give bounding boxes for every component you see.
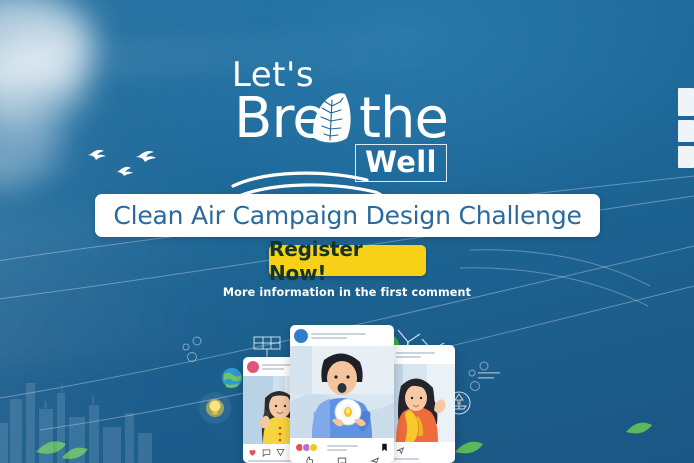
bookmark-icon[interactable] [380,442,389,453]
caption-placeholder [327,445,371,451]
card-actions[interactable] [290,438,394,463]
brand-logo: Let's Breathe [0,58,694,150]
post-image [290,346,394,438]
page-title: Clean Air Campaign Design Challenge [113,201,581,230]
more-info-note: More information in the first comment [0,286,694,299]
logo-line-well: Well [365,146,437,178]
headline-banner: Clean Air Campaign Design Challenge [95,194,600,237]
username-placeholder [396,352,451,358]
share-icon[interactable] [370,456,380,463]
reactions-row[interactable] [295,442,389,453]
lung-leaf-icon [305,92,357,148]
comment-icon[interactable] [262,448,271,457]
action-icons[interactable] [295,456,389,463]
reaction-like-icon [309,443,318,452]
comment-icon[interactable] [337,456,347,463]
heart-icon[interactable] [248,448,257,457]
campaign-poster: Let's Breathe [0,0,694,463]
avatar [247,361,259,373]
city-skyline-silhouette [0,343,230,463]
list-item[interactable] [290,325,394,463]
card-header [290,325,394,346]
avatar [294,329,308,343]
register-button[interactable]: Register Now! [269,245,426,276]
like-icon[interactable] [304,456,314,463]
reaction-cluster[interactable] [295,443,318,452]
send-icon[interactable] [276,448,285,457]
register-button-label: Register Now! [269,237,426,285]
username-placeholder [311,333,390,339]
logo-breathe-suffix: the [359,86,448,151]
logo-well-box: Well [355,144,447,182]
share-icon[interactable] [396,446,405,455]
